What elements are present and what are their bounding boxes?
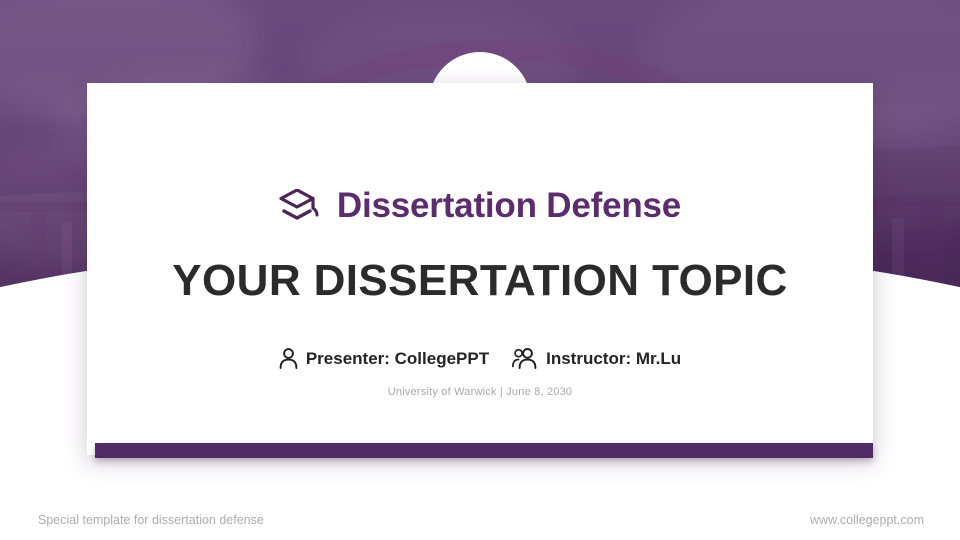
footer-website-link[interactable]: www.collegeppt.com xyxy=(810,513,924,527)
page-title: YOUR DISSERTATION TOPIC xyxy=(0,256,960,306)
presenter-label: Presenter: CollegePPT xyxy=(306,349,489,369)
instructor-block: Instructor: Mr.Lu xyxy=(512,348,681,369)
affiliation-and-date: University of Warwick | June 8, 2030 xyxy=(0,386,960,398)
presentation-slide: Dissertation Defense YOUR DISSERTATION T… xyxy=(0,0,960,540)
card-accent-bar xyxy=(95,443,873,458)
graduation-cap-icon xyxy=(279,189,321,223)
instructor-label: Instructor: Mr.Lu xyxy=(546,349,681,369)
footer-left-text: Special template for dissertation defens… xyxy=(38,513,264,527)
person-icon xyxy=(279,348,298,369)
group-icon xyxy=(512,348,538,369)
eyebrow-title: Dissertation Defense xyxy=(337,186,681,226)
presenter-block: Presenter: CollegePPT xyxy=(279,348,489,369)
people-row: Presenter: CollegePPT Instructor: Mr.Lu xyxy=(0,348,960,369)
eyebrow-row: Dissertation Defense xyxy=(0,186,960,226)
